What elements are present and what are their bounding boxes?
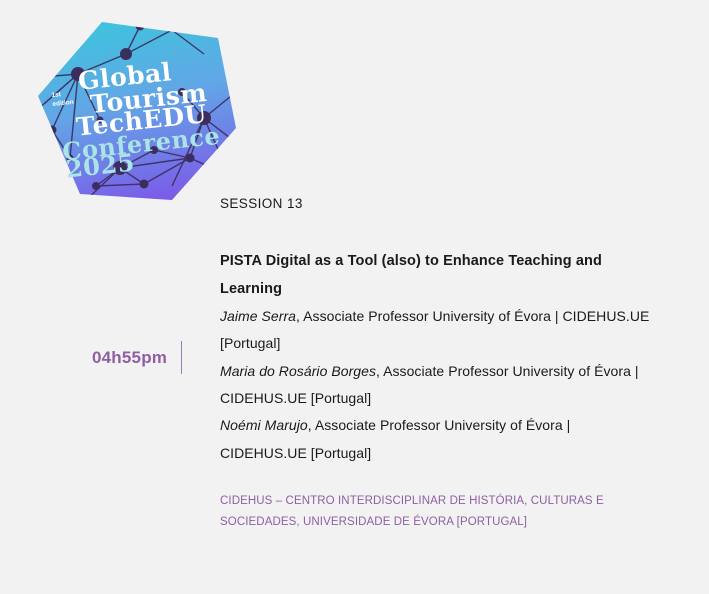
conference-logo: 1st edition Global Tourism TechEDU Confe… [22,8,242,208]
time-divider [181,341,182,374]
speaker-name: Jaime Serra [220,308,296,324]
session-title: PISTA Digital as a Tool (also) to Enhanc… [220,247,650,304]
speaker-name: Maria do Rosário Borges [220,363,376,379]
speaker-item: Maria do Rosário Borges, Associate Profe… [220,358,650,413]
affiliation-note: CIDEHUS – CENTRO INTERDISCIPLINAR DE HIS… [220,491,650,534]
speaker-name: Noémi Marujo [220,417,308,433]
session-time-block: 04h55pm [92,341,182,374]
speaker-item: Noémi Marujo, Associate Professor Univer… [220,412,650,467]
session-details: SESSION 13 PISTA Digital as a Tool (also… [220,195,650,533]
speaker-item: Jaime Serra, Associate Professor Univers… [220,303,650,358]
session-time: 04h55pm [92,348,167,368]
logo-hexagon-graphic [22,8,242,208]
speaker-list: Jaime Serra, Associate Professor Univers… [220,303,650,467]
session-label: SESSION 13 [220,195,650,213]
